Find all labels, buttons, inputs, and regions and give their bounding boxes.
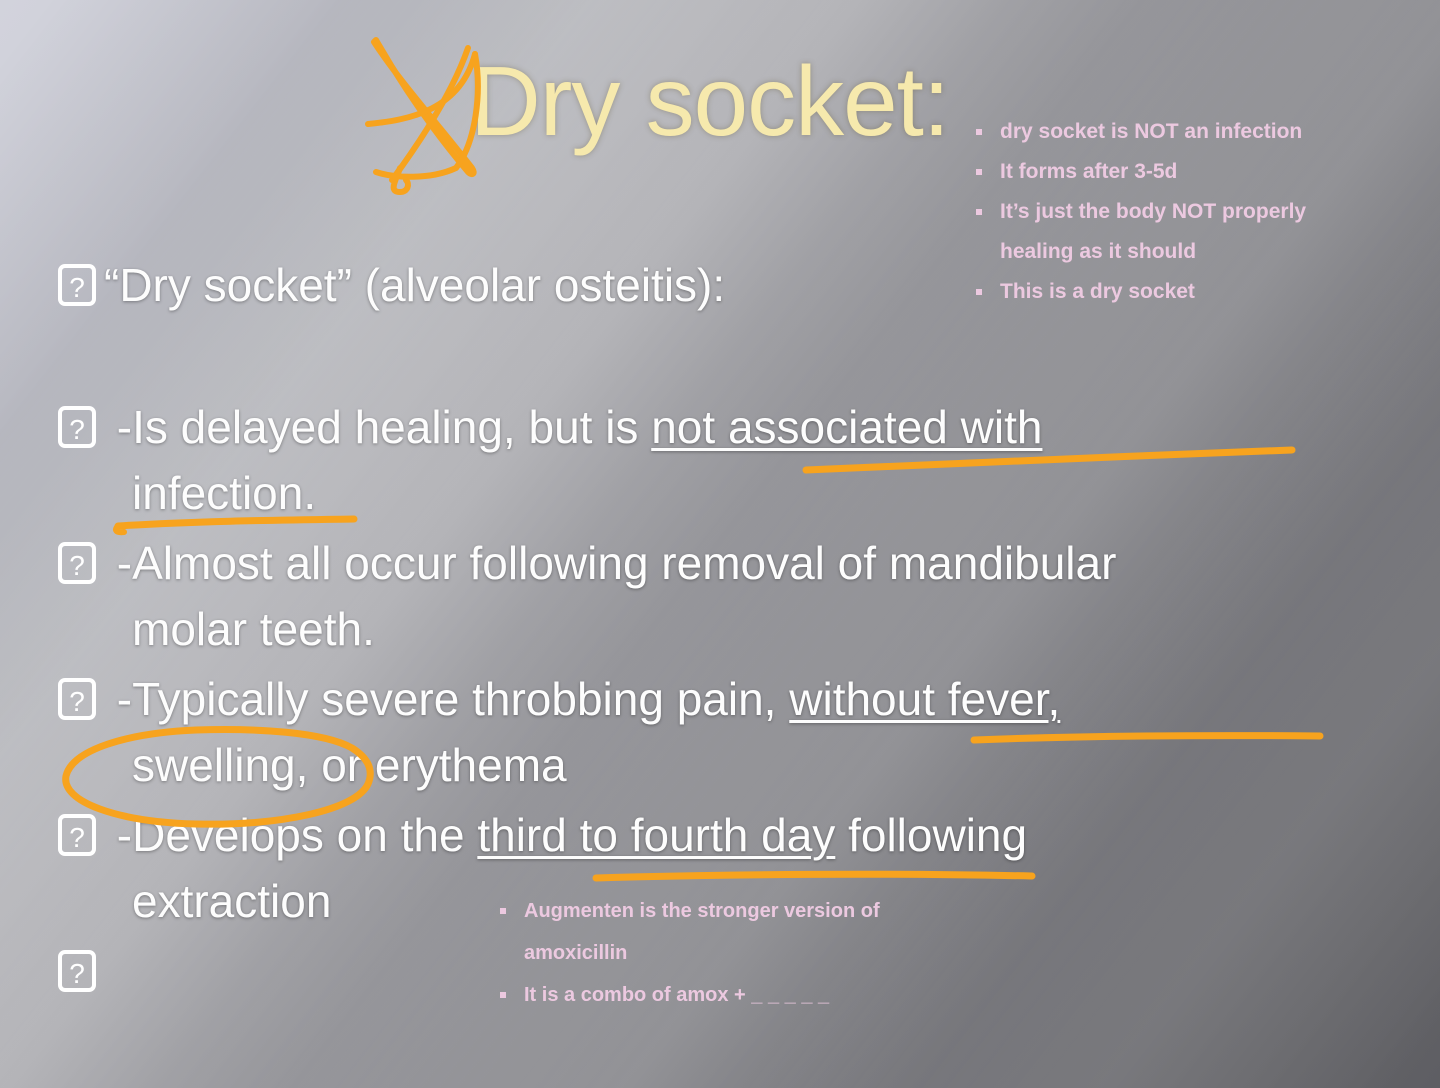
bullet-line-wrap: molar teeth. bbox=[58, 596, 1398, 662]
bullet-text: -Is delayed healing, but is bbox=[104, 401, 651, 453]
bullet-line: ? -Develops on the third to fourth day f… bbox=[58, 802, 1398, 868]
bullet-text-underlined: not associated with bbox=[651, 401, 1042, 453]
bullet-text: “Dry socket” (alveolar osteitis): bbox=[104, 259, 725, 311]
bullet-item: ? -Is delayed healing, but is not associ… bbox=[58, 394, 1398, 526]
bullet-item: ? -Almost all occur following removal of… bbox=[58, 530, 1398, 662]
annotation-item: It is a combo of amox + _ _ _ _ _ bbox=[490, 974, 1050, 1016]
annotation-list: dry socket is NOT an infection It forms … bbox=[966, 112, 1412, 312]
annotation-item: Augmenten is the stronger version of bbox=[490, 890, 1050, 932]
star-scribble-ink-mark bbox=[360, 32, 510, 197]
bullet-text: infection. bbox=[132, 467, 316, 519]
spacer bbox=[58, 322, 1398, 394]
slide-canvas: Dry socket: ?“Dry socket” (alveolar oste… bbox=[0, 0, 1440, 1088]
annotation-block-bottom: Augmenten is the stronger version of amo… bbox=[490, 890, 1050, 1016]
bullet-line: ? -Almost all occur following removal of… bbox=[58, 530, 1398, 596]
slide-title: Dry socket: bbox=[470, 52, 949, 150]
bullet-text-underlined: without fever, bbox=[789, 673, 1060, 725]
bullet-text: extraction bbox=[132, 875, 331, 927]
bullet-text: swelling, or erythema bbox=[132, 739, 567, 791]
bullet-line-wrap: infection. bbox=[58, 460, 1398, 526]
annotation-block-top: dry socket is NOT an infection It forms … bbox=[966, 112, 1412, 312]
annotation-item-continuation: amoxicillin bbox=[490, 932, 1050, 974]
missing-glyph-bullet-icon: ? bbox=[58, 950, 96, 992]
bullet-text: -Almost all occur following removal of m… bbox=[104, 537, 1116, 589]
missing-glyph-bullet-icon: ? bbox=[58, 678, 96, 720]
bullet-line: ? -Is delayed healing, but is not associ… bbox=[58, 394, 1398, 460]
bullet-text: molar teeth. bbox=[132, 603, 375, 655]
bullet-text: -Develops on the bbox=[104, 809, 477, 861]
annotation-item: This is a dry socket bbox=[966, 272, 1412, 312]
annotation-item: dry socket is NOT an infection bbox=[966, 112, 1412, 152]
missing-glyph-bullet-icon: ? bbox=[58, 542, 96, 584]
bullet-line: ? -Typically severe throbbing pain, with… bbox=[58, 666, 1398, 732]
annotation-item: It forms after 3-5d bbox=[966, 152, 1412, 192]
missing-glyph-bullet-icon: ? bbox=[58, 264, 96, 306]
missing-glyph-bullet-icon: ? bbox=[58, 814, 96, 856]
bullet-text-underlined: third to fourth day bbox=[477, 809, 835, 861]
annotation-list: Augmenten is the stronger version of amo… bbox=[490, 890, 1050, 1016]
annotation-item: It’s just the body NOT properly bbox=[966, 192, 1412, 232]
bullet-text: following bbox=[835, 809, 1027, 861]
missing-glyph-bullet-icon: ? bbox=[58, 406, 96, 448]
bullet-text: -Typically severe throbbing pain, bbox=[104, 673, 789, 725]
annotation-item-continuation: healing as it should bbox=[966, 232, 1412, 272]
bullet-item: ? -Typically severe throbbing pain, with… bbox=[58, 666, 1398, 798]
bullet-line-wrap: swelling, or erythema bbox=[58, 732, 1398, 798]
